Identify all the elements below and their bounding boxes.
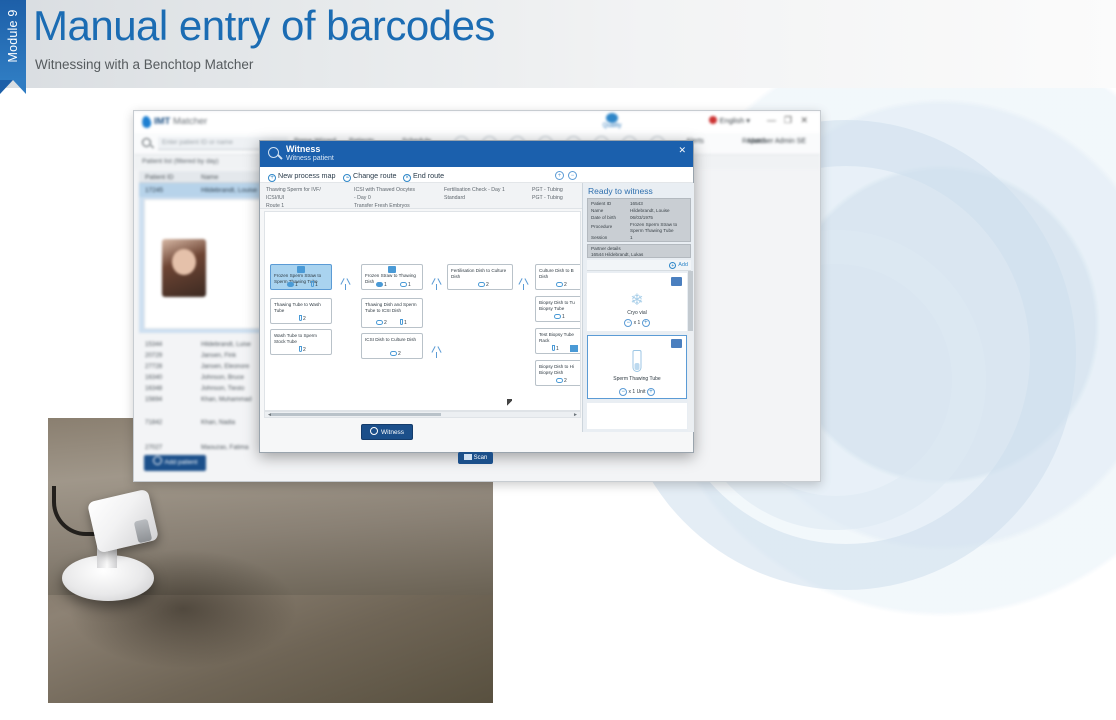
pill-outline-icon xyxy=(390,351,397,356)
ready-to-witness-title: Ready to witness xyxy=(588,186,653,196)
process-map-canvas[interactable]: Frozen Sperm Straw to Sperm Thawing Tube… xyxy=(264,211,581,411)
proc-col1-line3: Route 1 xyxy=(266,202,321,210)
row-name: Johnson, Tiesto xyxy=(201,385,244,392)
witness-toolbar: +New process map ⌁Change route ×End rout… xyxy=(260,167,693,183)
module-tab: Module 9 xyxy=(0,0,26,80)
pill-outline-icon xyxy=(376,320,383,325)
node-count-2: 1 xyxy=(400,319,407,326)
node-count-1-value: 1 xyxy=(562,314,565,320)
barcode-icon xyxy=(671,277,682,286)
node-count-2: 1 xyxy=(311,281,318,288)
witness-item-card[interactable]: Sperm Thawing Tube − x 1 Unit + xyxy=(587,335,687,399)
scroll-right-arrow[interactable]: ► xyxy=(573,412,578,418)
branch-connector-icon xyxy=(517,278,530,290)
item-name: Sperm Thawing Tube xyxy=(588,376,686,383)
node-count-2-value: 2 xyxy=(486,282,489,288)
witness-dialog-title-bar: Witness Witness patient ✕ xyxy=(260,141,693,167)
node-label: Test Biopsy Tube Rack xyxy=(539,332,579,344)
field-label-procedure: Procedure xyxy=(591,224,612,229)
page-title: Manual entry of barcodes xyxy=(33,2,495,50)
change-route-button[interactable]: ⌁Change route xyxy=(343,171,397,182)
end-route-label: End route xyxy=(413,171,444,180)
node-count-2: 2 xyxy=(390,351,401,357)
search-icon xyxy=(142,138,151,147)
process-node[interactable]: Biopsy Dish to Tu Biopsy Tube 1 xyxy=(535,296,581,322)
plus-button[interactable]: + xyxy=(642,319,650,327)
user-menu[interactable]: Matcher Admin SE xyxy=(748,138,806,145)
minus-button[interactable]: − xyxy=(619,388,627,396)
proc-col2-line3: Transfer Fresh Embryos xyxy=(354,202,415,210)
row-id: 16340 xyxy=(145,374,162,381)
barcode-icon xyxy=(464,454,472,460)
pill-outline-icon xyxy=(556,378,563,383)
row-name: Hildebrandt, Louise xyxy=(201,187,257,194)
slide-header: Module 9 Manual entry of barcodes Witnes… xyxy=(0,0,1116,88)
item-quantity-stepper[interactable]: − x 1 Unit + xyxy=(588,388,686,396)
language-selector[interactable]: English ▾ xyxy=(709,116,750,125)
row-name: Khan, Muhammad xyxy=(201,396,252,403)
node-count-2-value: 1 xyxy=(404,320,407,326)
row-id: 20729 xyxy=(145,352,162,359)
process-node[interactable]: Wash Tube to Sperm Stock Tube 2 xyxy=(270,329,332,355)
window-close-button[interactable]: ✕ xyxy=(800,115,808,126)
field-value-patient-id: 16543 xyxy=(630,201,643,206)
page-subtitle: Witnessing with a Benchtop Matcher xyxy=(35,57,253,72)
imt-logo-icon xyxy=(141,115,152,128)
new-process-map-button[interactable]: +New process map xyxy=(268,171,336,182)
process-node[interactable]: ICSI Dish to Culture Dish 2 xyxy=(361,333,423,359)
process-node[interactable]: Frozen Sperm Straw to Sperm Thawing Tube… xyxy=(270,264,332,290)
process-column-3: Fertilisation Check - Day 1 Standard xyxy=(444,186,505,202)
app-status-bar: Cycles remaining: 977 Major, 905 Minor, … xyxy=(134,110,820,111)
scan-button[interactable]: Scan xyxy=(458,452,493,464)
field-value-session: 1 xyxy=(630,235,633,240)
scroll-thumb[interactable] xyxy=(688,271,693,331)
node-count-2: 2 xyxy=(478,282,489,288)
brand-sub: Matcher xyxy=(173,116,207,127)
node-count-1-value: 1 xyxy=(556,346,559,352)
language-label: English xyxy=(720,116,745,125)
witness-dialog-subtitle: Witness patient xyxy=(286,155,334,162)
field-label-name: Name xyxy=(591,208,603,213)
app-title-bar: IMT Matcher Quality English ▾ — ❐ ✕ xyxy=(134,111,820,133)
process-column-1: Thawing Sperm for IVF/ ICSI/IUI Route 1 xyxy=(266,186,321,210)
plus-circle-icon: + xyxy=(669,262,676,269)
tube-icon xyxy=(552,345,555,351)
row-name: Jansen, Fink xyxy=(201,352,236,359)
app-brand: IMT Matcher xyxy=(154,116,207,127)
node-count-2-value: 1 xyxy=(408,282,411,288)
route-icon: ⌁ xyxy=(343,174,351,182)
quality-badge-label: Quality xyxy=(603,123,622,129)
scan-button-label: Scan xyxy=(474,455,488,461)
node-label: Thawing Dish and Sperm Tube to ICSI Dish xyxy=(365,302,419,314)
field-value-name: Hildebrandt, Louise xyxy=(630,208,670,213)
field-value-dob: 06/03/1975 xyxy=(630,215,653,220)
quality-badge: Quality xyxy=(589,112,635,131)
node-count-2: 2 xyxy=(556,282,567,288)
process-node[interactable]: Thawing Tube to Wash Tube 2 xyxy=(270,298,332,324)
field-value-procedure: Frozen Sperm Straw to Sperm Thawing Tube xyxy=(630,222,686,234)
proc-col1-line1: Thawing Sperm for IVF/ xyxy=(266,186,321,194)
pill-icon xyxy=(376,282,383,287)
row-name: Jansen, Eleonore xyxy=(201,363,249,370)
row-id: 15694 xyxy=(145,396,162,403)
snowflake-icon: ❄ xyxy=(630,290,643,310)
patient-list-label: Patient list (filtered by day) xyxy=(142,158,219,165)
row-name: Khan, Nadia xyxy=(201,419,235,426)
proc-col3-line1: Fertilisation Check - Day 1 xyxy=(444,186,505,194)
field-label-session: Session xyxy=(591,235,607,240)
proc-col2-line1: ICSI with Thawed Oocytes xyxy=(354,186,415,194)
quality-ring-icon xyxy=(606,113,618,123)
partner-details-label: Partner details xyxy=(591,246,621,251)
node-count-1: 1 xyxy=(552,345,559,352)
field-label-dob: Date of birth xyxy=(591,215,616,220)
plus-button[interactable]: + xyxy=(647,388,655,396)
window-maximize-button[interactable]: ❐ xyxy=(784,115,792,126)
pill-outline-icon xyxy=(556,282,563,287)
process-node[interactable]: Test Biopsy Tube Rack 1 xyxy=(535,328,581,354)
process-node[interactable]: Culture Dish to B Dish 2 xyxy=(535,264,581,290)
process-node[interactable]: Thawing Dish and Sperm Tube to ICSI Dish… xyxy=(361,298,423,328)
brand-name: IMT xyxy=(154,116,170,127)
stop-circle-icon: × xyxy=(403,174,411,182)
pill-outline-icon xyxy=(400,282,407,287)
branch-connector-icon xyxy=(430,278,443,290)
node-count-2: 1 xyxy=(400,282,411,288)
ready-to-witness-panel: Ready to witness Patient ID 16543 Name H… xyxy=(582,183,694,432)
witness-magnifier-icon xyxy=(268,147,279,158)
node-label: Fertilisation Dish to Culture Dish xyxy=(451,268,509,280)
module-tab-label: Module 9 xyxy=(6,2,20,70)
col-name: Name xyxy=(201,174,218,181)
node-count-1: 2 xyxy=(376,320,387,326)
partner-details-value: 16544 Hildebrandt, Lukas xyxy=(591,252,643,257)
node-count-2-value: 2 xyxy=(303,347,306,353)
branch-connector-icon xyxy=(339,278,352,290)
node-label: Thawing Tube to Wash Tube xyxy=(274,302,328,314)
witness-dialog: Witness Witness patient ✕ +New process m… xyxy=(259,140,694,453)
node-label: Frozen Sperm Straw to Sperm Thawing Tube xyxy=(274,273,328,285)
node-count-1-value: 1 xyxy=(295,282,298,288)
witness-item-card-empty[interactable] xyxy=(587,403,687,429)
node-label: Biopsy Dish to Hi Biopsy Dish xyxy=(539,364,579,376)
row-id: 27728 xyxy=(145,363,162,370)
node-count-2: 2 xyxy=(299,346,306,353)
witness-dialog-title: Witness xyxy=(286,144,320,154)
process-column-4: PGT - Tubing PGT - Tubing xyxy=(532,186,563,202)
row-name: Hildebrandt, Luise xyxy=(201,341,251,348)
proc-col3-line2: Standard xyxy=(444,194,505,202)
node-count-1-value: 2 xyxy=(384,320,387,326)
pill-icon xyxy=(287,282,294,287)
row-id: 15344 xyxy=(145,341,162,348)
zoom-out-icon[interactable]: − xyxy=(568,171,577,180)
pill-outline-icon xyxy=(478,282,485,287)
add-button[interactable]: +Add xyxy=(669,262,688,269)
node-count-2: 2 xyxy=(299,315,306,322)
node-label: Wash Tube to Sperm Stock Tube xyxy=(274,333,328,345)
item-quantity: x 1 Unit xyxy=(629,389,646,395)
barcode-icon xyxy=(388,266,396,273)
node-label: Biopsy Dish to Tu Biopsy Tube xyxy=(539,300,579,312)
node-count-1: 1 xyxy=(287,282,298,288)
item-quantity: x 1 xyxy=(634,320,641,326)
node-count-1: 1 xyxy=(554,314,565,320)
node-count-2-value: 2 xyxy=(564,378,567,384)
barcode-badge-icon xyxy=(570,345,578,352)
node-count-2-value: 2 xyxy=(303,316,306,322)
new-process-map-label: New process map xyxy=(278,171,336,180)
map-horizontal-scrollbar[interactable]: ◄ ► xyxy=(264,411,581,418)
field-label-patient-id: Patient ID xyxy=(591,201,611,206)
node-count-2: 2 xyxy=(556,378,567,384)
process-node[interactable]: Frozen Straw to Thawing Dish 1 1 xyxy=(361,264,423,290)
node-count-2-value: 2 xyxy=(564,282,567,288)
proc-col1-line2: ICSI/IUI xyxy=(266,194,321,202)
items-vertical-scrollbar[interactable] xyxy=(688,271,693,431)
node-label: Culture Dish to B Dish xyxy=(539,268,579,280)
tube-icon xyxy=(299,315,302,321)
avatar xyxy=(162,239,206,297)
barcode-icon xyxy=(297,266,305,273)
col-patient-id: Patient ID xyxy=(145,174,174,181)
witness-button-label: Witness xyxy=(381,429,404,436)
minus-button[interactable]: − xyxy=(624,319,632,327)
search-placeholder: Enter patient ID or name xyxy=(162,139,233,146)
barcode-icon xyxy=(671,339,682,348)
magnifier-icon xyxy=(370,427,378,435)
scroll-thumb[interactable] xyxy=(271,413,441,416)
proc-col4-line1: PGT - Tubing xyxy=(532,186,563,194)
row-id: 27027 xyxy=(145,444,162,451)
close-icon[interactable]: ✕ xyxy=(678,145,686,156)
tube-icon xyxy=(633,350,642,372)
add-patient-label: Add patient xyxy=(165,459,198,466)
process-column-2: ICSI with Thawed Oocytes - Day 0 Transfe… xyxy=(354,186,415,210)
row-patient-id: 17245 xyxy=(145,187,163,194)
zoom-in-icon[interactable]: + xyxy=(555,171,564,180)
proc-col4-line2: PGT - Tubing xyxy=(532,194,563,202)
add-patient-icon xyxy=(153,456,162,465)
add-item-bar: +Add xyxy=(587,260,691,271)
row-id: 71842 xyxy=(145,419,162,426)
mouse-cursor xyxy=(507,399,512,407)
witness-item-card[interactable]: ❄ Cryo vial − x 1 + xyxy=(587,273,687,331)
proc-col2-line2: - Day 0 xyxy=(354,194,415,202)
change-route-label: Change route xyxy=(353,171,397,180)
node-label: ICSI Dish to Culture Dish xyxy=(365,337,419,343)
node-count-1-value: 1 xyxy=(384,282,387,288)
add-patient-button[interactable]: Add patient xyxy=(144,455,206,471)
plus-circle-icon: + xyxy=(268,174,276,182)
node-count-2-value: 1 xyxy=(315,282,318,288)
node-count-1: 1 xyxy=(376,282,387,288)
branch-connector-icon xyxy=(430,346,443,358)
window-minimize-button[interactable]: — xyxy=(767,115,776,125)
item-name: Cryo vial xyxy=(588,310,686,317)
add-label: Add xyxy=(678,262,688,268)
tube-icon xyxy=(400,319,403,325)
process-node[interactable]: Biopsy Dish to Hi Biopsy Dish 2 xyxy=(535,360,581,386)
item-quantity-stepper[interactable]: − x 1 + xyxy=(588,319,686,327)
pill-outline-icon xyxy=(554,314,561,319)
end-route-button[interactable]: ×End route xyxy=(403,171,444,182)
row-name: Maouzas, Fatima xyxy=(201,444,248,451)
row-name: Johnson, Bruce xyxy=(201,374,244,381)
process-node[interactable]: Fertilisation Dish to Culture Dish 2 xyxy=(447,264,513,290)
witness-button[interactable]: Witness xyxy=(361,424,413,440)
flag-icon xyxy=(709,116,717,124)
tube-icon xyxy=(311,281,314,287)
tube-icon xyxy=(299,346,302,352)
row-id: 16348 xyxy=(145,385,162,392)
node-count-2-value: 2 xyxy=(398,351,401,357)
